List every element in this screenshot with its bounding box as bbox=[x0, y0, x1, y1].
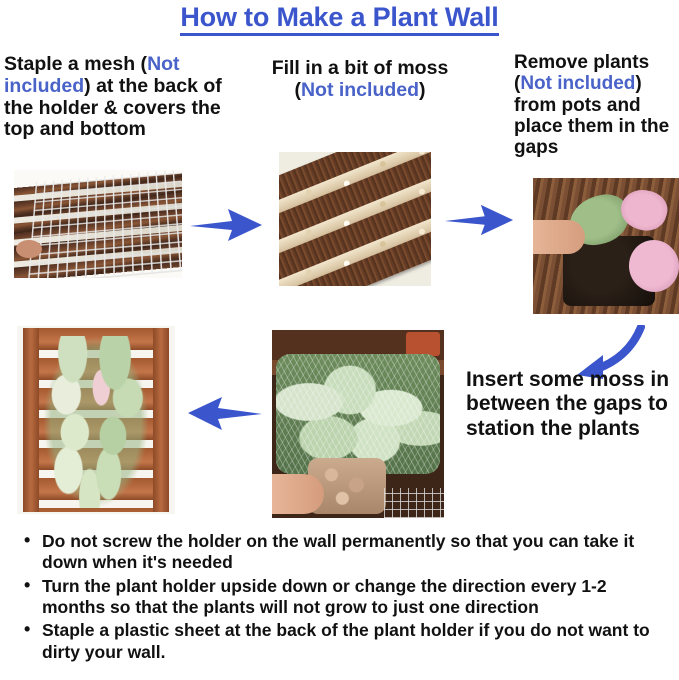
tips-list: Do not screw the holder on the wall perm… bbox=[16, 531, 668, 665]
hand-finger bbox=[533, 220, 585, 254]
step-2-note-not-included: Not included bbox=[301, 79, 419, 101]
step-2-photo-moss-in-slats bbox=[279, 152, 431, 286]
step-4-photo-moss-between-plants bbox=[272, 330, 444, 518]
step-2-caption-part-b: ) bbox=[419, 79, 426, 101]
frame-side-rail-right bbox=[153, 328, 169, 512]
frame-side-rail-left bbox=[23, 328, 39, 512]
step-4-caption-text: Insert some moss in between the gaps to … bbox=[466, 368, 669, 440]
leaf-vein-pattern bbox=[276, 354, 440, 474]
wire-mesh-overlay bbox=[28, 170, 182, 278]
hand-thumb bbox=[16, 240, 42, 258]
step-3-caption: Remove plants (Not included) from pots a… bbox=[514, 52, 679, 158]
step-1-caption: Staple a mesh (Not included) at the back… bbox=[4, 54, 256, 141]
wire-mesh-edge bbox=[384, 488, 444, 518]
tip-item: Staple a plastic sheet at the back of th… bbox=[42, 620, 668, 663]
arrow-right-step2-to-step3 bbox=[443, 200, 515, 245]
step-4-caption: Insert some moss in between the gaps to … bbox=[466, 368, 679, 441]
step-3-note-not-included: Not included bbox=[520, 73, 635, 94]
step-1-caption-part-a: Staple a mesh ( bbox=[4, 53, 147, 75]
step-2-caption: Fill in a bit of moss (Not included) bbox=[262, 58, 458, 102]
hand-finger bbox=[272, 474, 324, 514]
arrow-right-step1-to-step2 bbox=[188, 205, 264, 250]
tip-item: Do not screw the holder on the wall perm… bbox=[42, 531, 668, 574]
succulent-plant-arrangement bbox=[43, 336, 149, 508]
step-5-photo-finished-plant-wall bbox=[17, 326, 175, 514]
step-3-photo-placing-plants bbox=[533, 178, 679, 314]
arrow-left-step4-to-step5 bbox=[184, 392, 264, 439]
page-title-text: How to Make a Plant Wall bbox=[180, 2, 498, 36]
tip-item: Turn the plant holder upside down or cha… bbox=[42, 576, 668, 619]
terracotta-pot bbox=[406, 332, 440, 356]
step-1-photo-mesh-on-holder bbox=[14, 170, 182, 278]
page-title: How to Make a Plant Wall bbox=[0, 2, 679, 33]
